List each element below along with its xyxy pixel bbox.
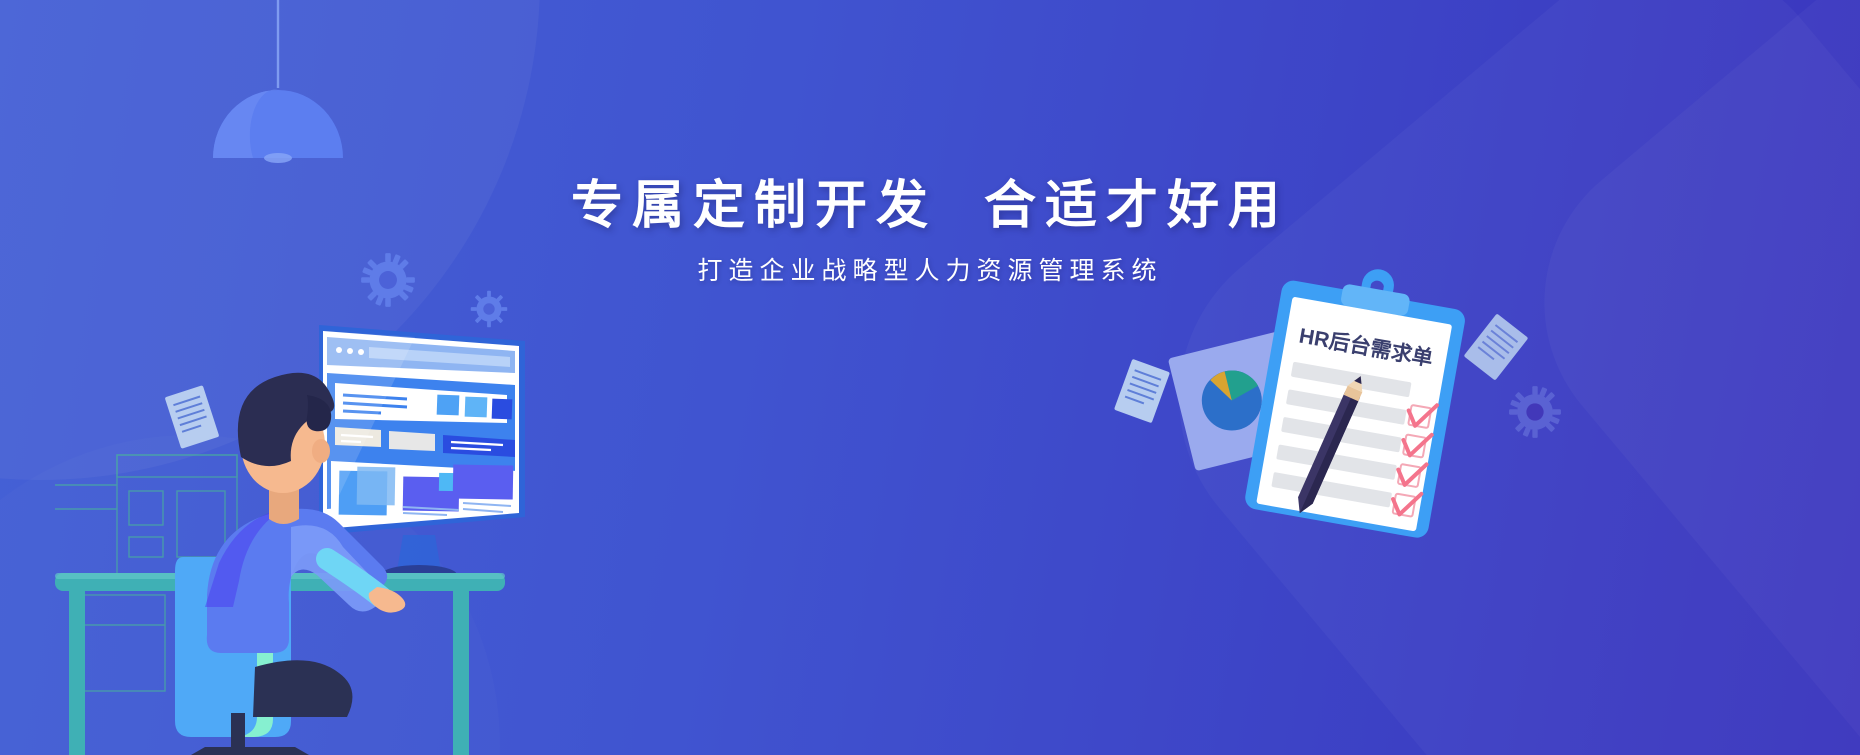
- document-icon: [1118, 362, 1166, 420]
- hr-form-illustration: HR后台需求单: [1170, 270, 1500, 540]
- page-title: 专属定制开发 合适才好用: [0, 176, 1860, 237]
- workspace-illustration: [55, 295, 615, 755]
- page-subtitle: 打造企业战略型人力资源管理系统: [0, 251, 1860, 287]
- banner-copy: 专属定制开发 合适才好用 打造企业战略型人力资源管理系统: [0, 176, 1860, 287]
- pendant-lamp-icon: [205, 0, 351, 160]
- gear-icon: [1508, 385, 1562, 439]
- hero-banner: HR后台需求单: [0, 0, 1860, 755]
